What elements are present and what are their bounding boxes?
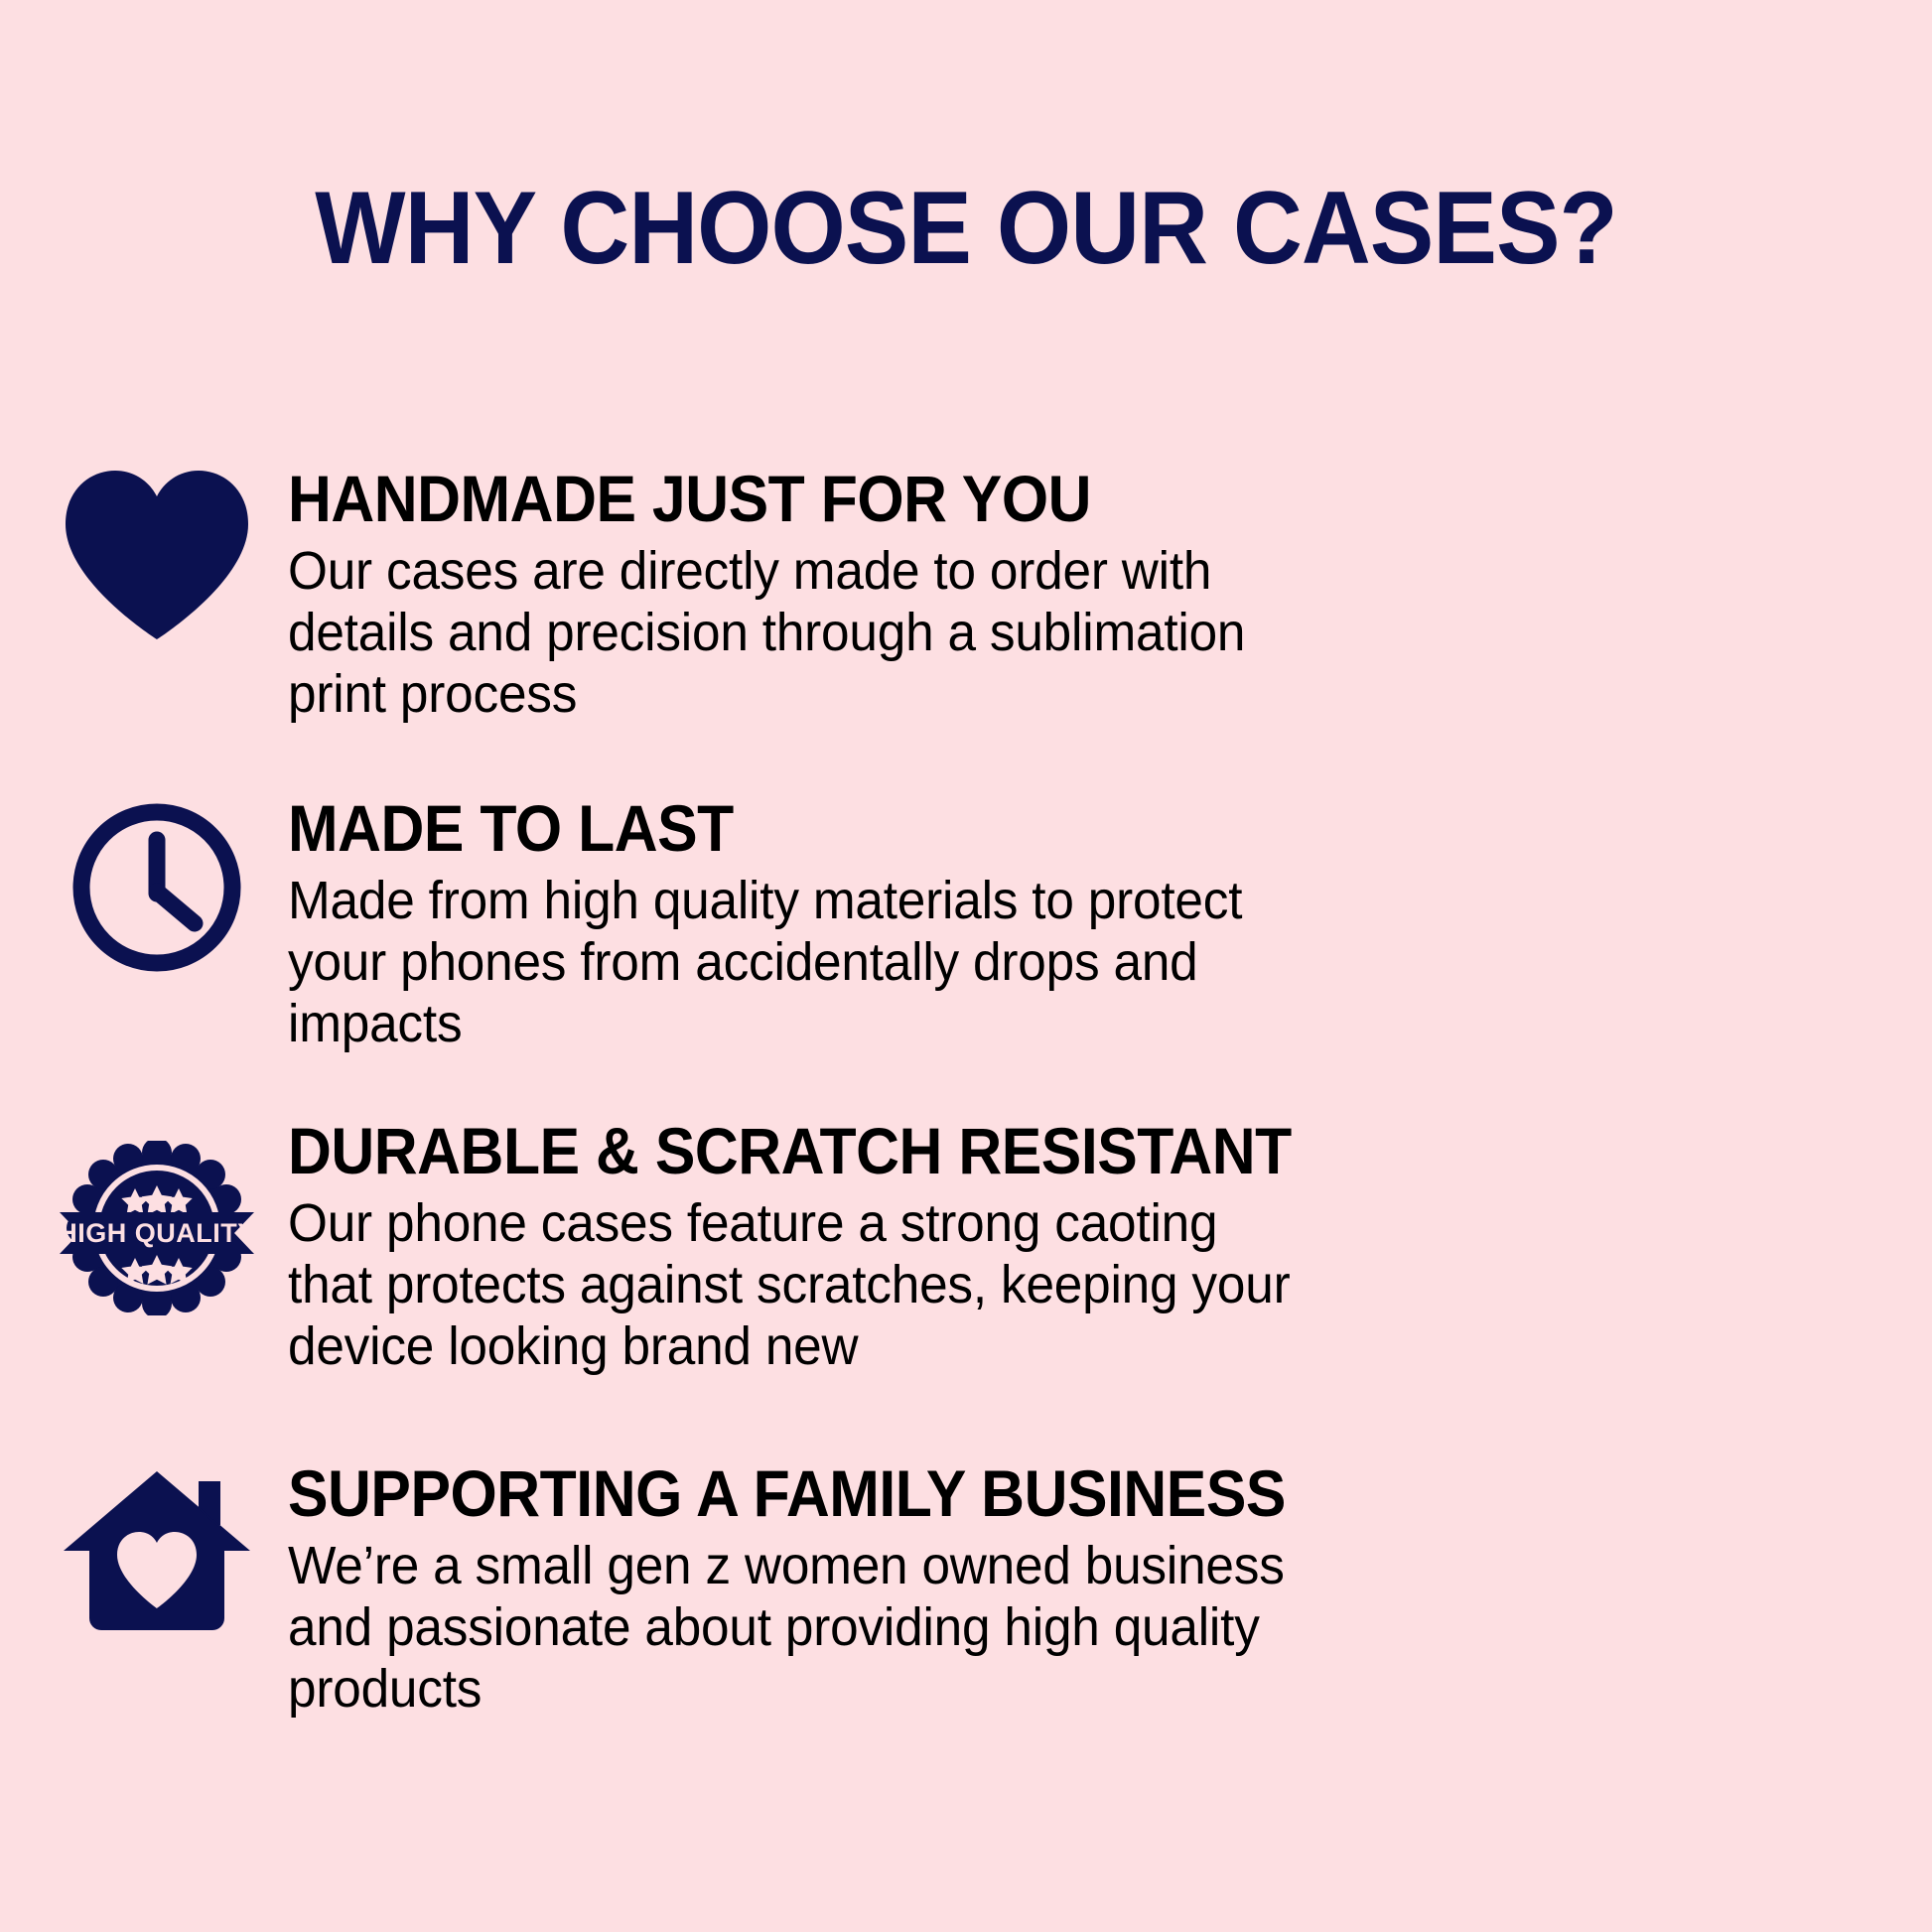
feature-body: We’re a small gen z women owned business… [288, 1535, 1307, 1720]
badge-label: HIGH QUALITY [58, 1218, 256, 1248]
feature-text-wrapper: SUPPORTING A FAMILY BUSINESS We’re a sma… [288, 1459, 1932, 1720]
feature-heading: SUPPORTING A FAMILY BUSINESS [288, 1459, 1745, 1527]
feature-body: Our phone cases feature a strong caoting… [288, 1192, 1307, 1377]
page-title: WHY CHOOSE OUR CASES? [68, 177, 1864, 280]
feature-icon-wrapper [0, 794, 288, 975]
feature-row: HANDMADE JUST FOR YOU Our cases are dire… [0, 465, 1932, 725]
heart-icon [58, 467, 256, 645]
feature-row: HIGH QUALITY DURABLE & SCRATCH RESISTANT… [0, 1117, 1932, 1377]
feature-heading: MADE TO LAST [288, 794, 1745, 862]
feature-text-wrapper: MADE TO LAST Made from high quality mate… [288, 794, 1932, 1054]
clock-icon [69, 800, 244, 975]
feature-icon-wrapper: HIGH QUALITY [0, 1117, 288, 1315]
feature-body: Our cases are directly made to order wit… [288, 540, 1307, 725]
feature-heading: DURABLE & SCRATCH RESISTANT [288, 1117, 1745, 1184]
feature-icon-wrapper [0, 465, 288, 645]
feature-row: SUPPORTING A FAMILY BUSINESS We’re a sma… [0, 1459, 1932, 1720]
high-quality-badge-icon: HIGH QUALITY [58, 1141, 256, 1315]
feature-icon-wrapper [0, 1459, 288, 1634]
promo-graphic: WHY CHOOSE OUR CASES? HANDMADE JUST FOR … [0, 0, 1932, 1932]
feature-text-wrapper: DURABLE & SCRATCH RESISTANT Our phone ca… [288, 1117, 1932, 1377]
house-heart-icon [64, 1463, 250, 1634]
feature-text-wrapper: HANDMADE JUST FOR YOU Our cases are dire… [288, 465, 1932, 725]
feature-row: MADE TO LAST Made from high quality mate… [0, 794, 1932, 1054]
feature-heading: HANDMADE JUST FOR YOU [288, 465, 1745, 532]
feature-body: Made from high quality materials to prot… [288, 870, 1307, 1054]
